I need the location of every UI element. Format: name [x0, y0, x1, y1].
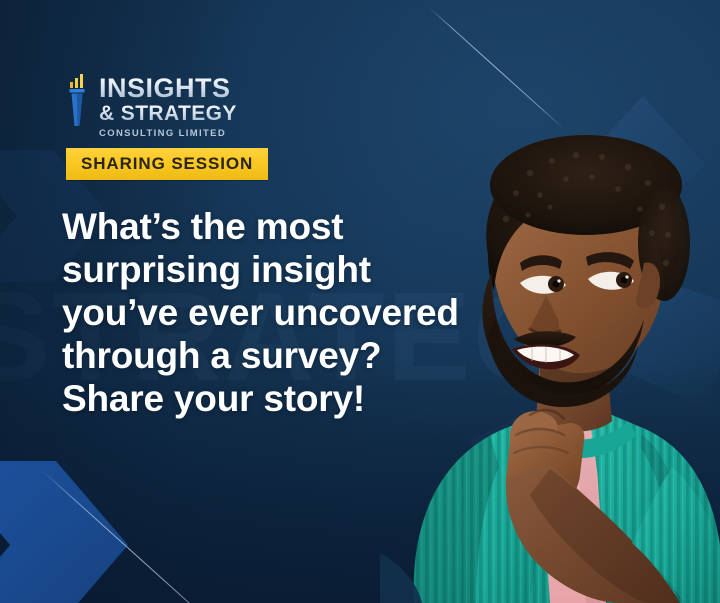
logo-line-consulting-limited: CONSULTING LIMITED — [99, 129, 237, 139]
sharing-session-poster: STRATEGY CONSULTING — [0, 0, 720, 603]
headline-line-3: you’ve ever uncovered — [62, 291, 492, 334]
headline-line-5: Share your story! — [62, 377, 492, 420]
sharing-session-badge: SHARING SESSION — [66, 148, 268, 180]
headline: What’s the most surprising insight you’v… — [62, 205, 492, 420]
logo-line-insights: INSIGHTS — [99, 75, 237, 102]
logo-wordmark: INSIGHTS & STRATEGY CONSULTING LIMITED — [99, 72, 237, 138]
lighthouse-bar-chart-icon — [64, 72, 90, 126]
headline-line-4: through a survey? — [62, 334, 492, 377]
headline-line-2: surprising insight — [62, 248, 492, 291]
logo-line-strategy: & STRATEGY — [99, 103, 237, 126]
headline-line-1: What’s the most — [62, 205, 492, 248]
company-logo: INSIGHTS & STRATEGY CONSULTING LIMITED — [64, 72, 237, 138]
